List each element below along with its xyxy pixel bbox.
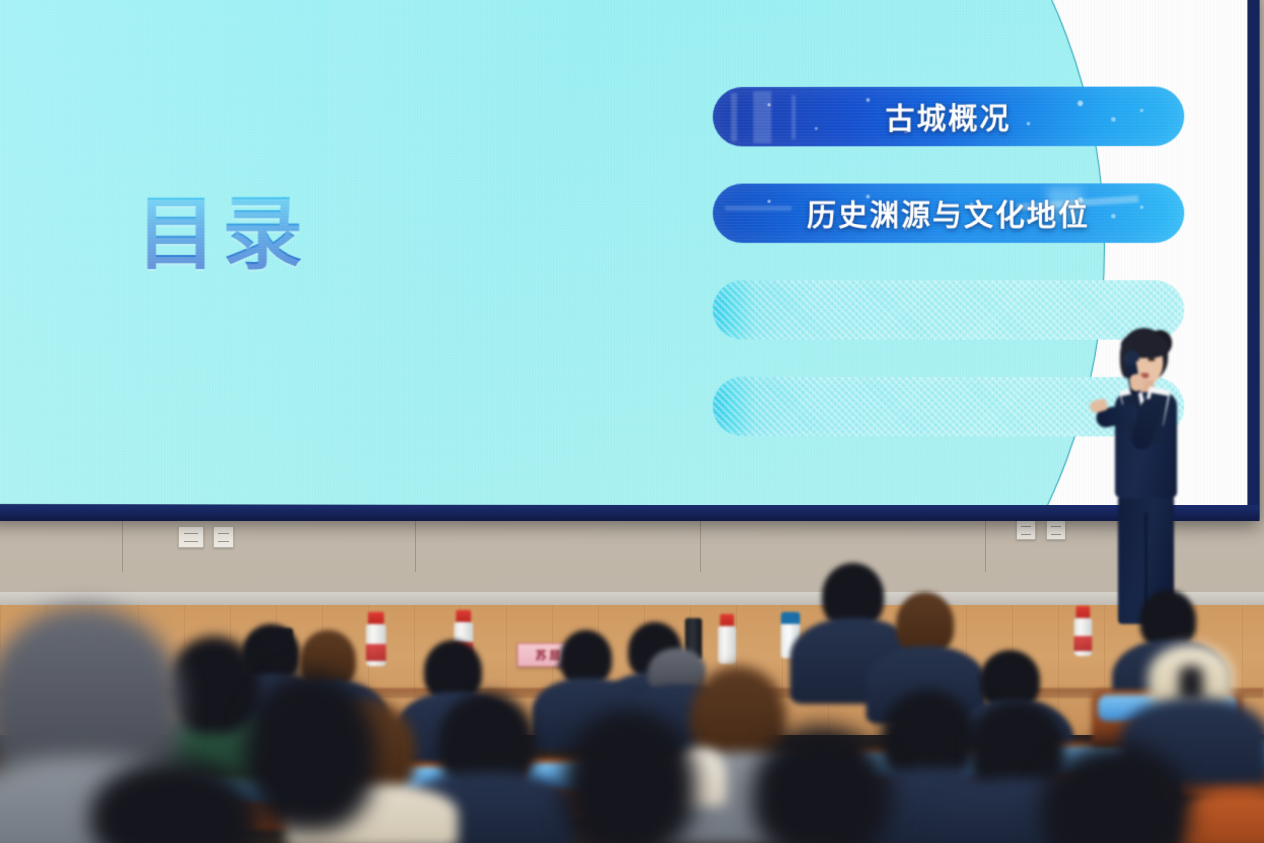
audience-head-foreground xyxy=(752,726,892,843)
projection-screen-frame: 目录 古城概况 历史渊源与文化地位 xyxy=(0,0,1260,520)
presenter-eye-right xyxy=(1148,358,1155,361)
audience-shoulders xyxy=(1178,790,1264,843)
light-streak xyxy=(753,91,771,143)
toc-item-1[interactable]: 古城概况 xyxy=(713,87,1185,147)
toc-item-2[interactable]: 历史渊源与文化地位 xyxy=(713,183,1185,243)
wall-outlet xyxy=(1046,520,1066,540)
water-bottle xyxy=(366,612,386,666)
light-streak xyxy=(731,93,737,141)
wall-outlet xyxy=(213,526,234,548)
light-streak xyxy=(792,95,796,139)
slide-title: 目录 xyxy=(136,194,309,274)
light-streak xyxy=(725,206,792,211)
projected-slide: 目录 古城概况 历史渊源与文化地位 xyxy=(0,0,1247,506)
name-card-text: 苏 屈 xyxy=(535,647,560,663)
presenter-speaker xyxy=(1090,326,1200,626)
water-bottle xyxy=(718,614,736,664)
cap-strap-gap xyxy=(1179,666,1203,700)
toc-item-1-label: 古城概况 xyxy=(885,95,1011,137)
water-bottle xyxy=(1074,606,1092,656)
projection-screen-bottom-bezel xyxy=(0,505,1260,521)
audience-head-foreground xyxy=(562,710,696,843)
bottle-body xyxy=(718,626,736,664)
screenshot-root: 目录 古城概况 历史渊源与文化地位 xyxy=(0,0,1264,843)
audience-head-foreground xyxy=(244,672,376,832)
wall-outlet xyxy=(1016,520,1036,540)
wall-outlet xyxy=(178,526,204,548)
toc-item-2-label: 历史渊源与文化地位 xyxy=(807,192,1090,234)
bottle-label xyxy=(1074,636,1092,651)
thermos-lid xyxy=(781,612,800,624)
presenter-hand-on-mic xyxy=(1129,373,1145,392)
bottle-label xyxy=(366,644,386,660)
